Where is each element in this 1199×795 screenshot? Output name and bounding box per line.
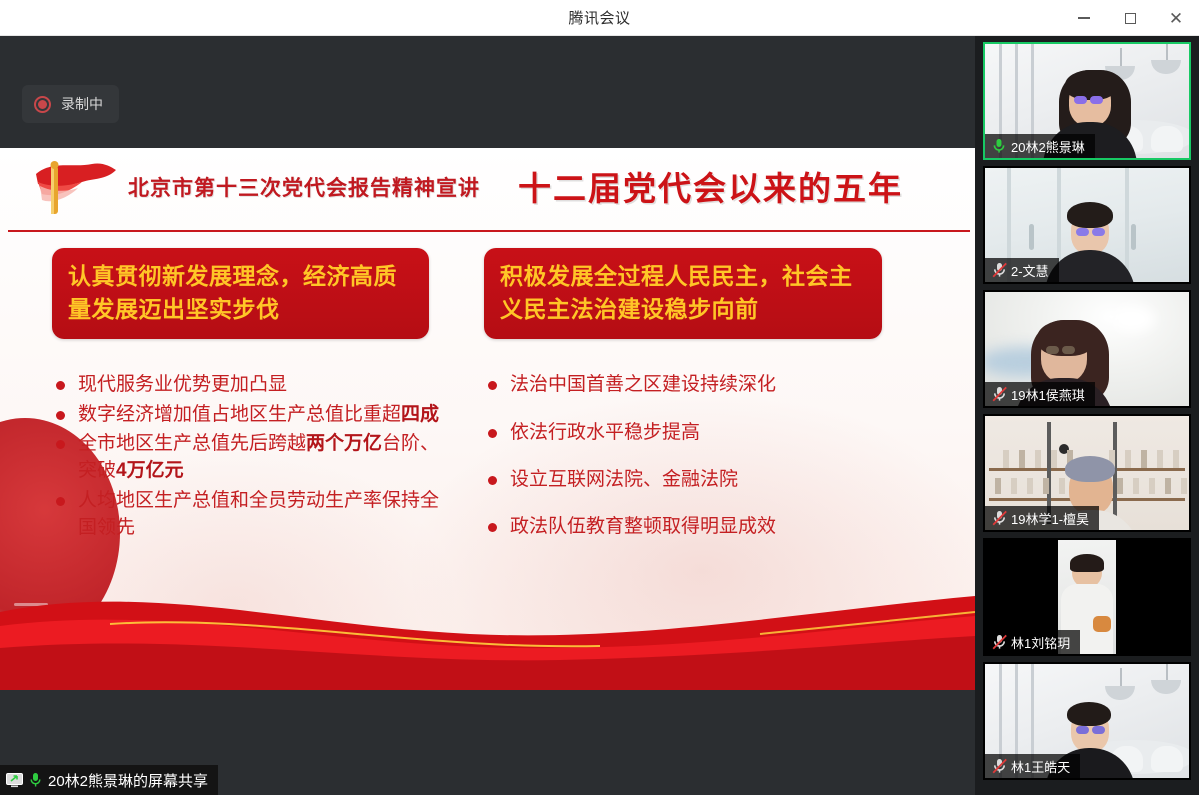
bullet-text: 现代服务业优势更加凸显 [78, 374, 287, 395]
microphone-muted-icon [992, 634, 1008, 650]
bullet-text: 依法行政水平稳步提高 [510, 422, 700, 443]
microphone-muted-icon[interactable] [992, 262, 1006, 278]
participant-name-badge: 林1刘铭玥 [985, 630, 1080, 654]
bullet-item: 人均地区生产总值和全员劳动生产率保持全国领先 [52, 487, 442, 542]
bullet-text: 设立互联网法院、金融法院 [510, 469, 738, 490]
maximize-icon [1125, 13, 1136, 24]
bullet-emphasis: 两个万亿 [306, 433, 382, 454]
record-dot-icon [34, 96, 51, 113]
window-title: 腾讯会议 [568, 7, 630, 28]
slide-header: 北京市第十三次党代会报告精神宣讲 十二届党代会以来的五年 [0, 148, 975, 232]
participant-name: 19林1侯燕琪 [1011, 385, 1085, 404]
slide-red-ribbon-decoration [0, 560, 975, 690]
participant-name: 2-文慧 [1011, 261, 1049, 280]
minimize-button[interactable] [1061, 0, 1107, 36]
bullet-emphasis: 四成 [401, 404, 439, 425]
bullet-list-left: 现代服务业优势更加凸显数字经济增加值占地区生产总值比重超四成全市地区生产总值先后… [52, 371, 442, 541]
close-button[interactable]: ✕ [1153, 0, 1199, 36]
recording-label: 录制中 [61, 94, 103, 114]
participant-name: 林1刘铭玥 [1011, 633, 1070, 652]
participant-name-badge: 林1王皓天 [985, 754, 1080, 778]
microphone-muted-icon [992, 510, 1008, 526]
microphone-muted-icon [992, 758, 1008, 774]
bullet-emphasis: 4万亿元 [116, 460, 184, 481]
participant-name: 林1王皓天 [1011, 757, 1070, 776]
bullet-list-right: 法治中国首善之区建设持续深化依法行政水平稳步提高设立互联网法院、金融法院政法队伍… [484, 371, 884, 540]
screen-share-icon [6, 773, 23, 788]
participant-name-badge: 19林1侯燕琪 [985, 382, 1095, 406]
maximize-button[interactable] [1107, 0, 1153, 36]
microphone-muted-icon [992, 386, 1008, 402]
bullet-text: 政法队伍教育整顿取得明显成效 [510, 516, 776, 537]
participant-video-panel[interactable]: 20林2熊景琳 2-文慧 19林1侯燕琪 19林学1-檀昊 [975, 36, 1199, 795]
participant-name-badge: 20林2熊景琳 [985, 134, 1095, 158]
bullet-item: 全市地区生产总值先后跨越两个万亿台阶、突破4万亿元 [52, 430, 442, 485]
slide-column-left: 认真贯彻新发展理念，经济高质量发展迈出坚实步伐 现代服务业优势更加凸显数字经济增… [52, 248, 442, 543]
participant-tile[interactable]: 林1王皓天 [983, 662, 1191, 780]
participant-tile[interactable]: 2-文慧 [983, 166, 1191, 284]
microphone-muted-icon [992, 262, 1008, 278]
microphone-muted-icon[interactable] [992, 510, 1006, 526]
screen-share-owner-label: 20林2熊景琳的屏幕共享 [48, 770, 208, 791]
participant-tile[interactable]: 19林1侯燕琪 [983, 290, 1191, 408]
microphone-muted-icon[interactable] [992, 634, 1006, 650]
tencent-meeting-window: 腾讯会议 ✕ 录制中 [0, 0, 1199, 795]
slide-header-divider [8, 230, 970, 232]
participant-tile[interactable]: 19林学1-檀昊 [983, 414, 1191, 532]
slide-column-right: 积极发展全过程人民民主，社会主义民主法治建设稳步向前 法治中国首善之区建设持续深… [484, 248, 884, 561]
participant-name: 20林2熊景琳 [1011, 137, 1085, 156]
participant-name: 19林学1-檀昊 [1011, 509, 1089, 528]
window-controls: ✕ [1061, 0, 1199, 36]
slide-subtitle: 北京市第十三次党代会报告精神宣讲 [128, 172, 480, 202]
bullet-item: 现代服务业优势更加凸显 [52, 371, 442, 398]
title-bar: 腾讯会议 ✕ [0, 0, 1199, 36]
participant-name-badge: 2-文慧 [985, 258, 1059, 282]
bullet-text: 数字经济增加值占地区生产总值比重超 [78, 404, 401, 425]
microphone-muted-icon[interactable] [992, 386, 1006, 402]
bullet-item: 依法行政水平稳步提高 [484, 419, 884, 446]
column-banner-right: 积极发展全过程人民民主，社会主义民主法治建设稳步向前 [484, 248, 882, 339]
recording-badge: 录制中 [22, 85, 119, 123]
slide-title: 十二届党代会以来的五年 [518, 162, 903, 210]
bullet-text: 全市地区生产总值先后跨越 [78, 433, 306, 454]
presentation-slide: 北京市第十三次党代会报告精神宣讲 十二届党代会以来的五年 认真贯彻新发展理念，经… [0, 148, 975, 690]
column-banner-left: 认真贯彻新发展理念，经济高质量发展迈出坚实步伐 [52, 248, 429, 339]
minimize-icon [1078, 17, 1090, 19]
red-flag-icon [22, 158, 118, 220]
bullet-item: 数字经济增加值占地区生产总值比重超四成 [52, 401, 442, 428]
microphone-muted-icon[interactable] [992, 758, 1006, 774]
screen-share-status-bar: 20林2熊景琳的屏幕共享 [0, 765, 218, 795]
microphone-on-icon[interactable] [992, 138, 1006, 154]
shared-screen-stage[interactable]: 录制中 北京市第十三次党代会报告精神宣讲 十二届党代会以来的五年 [0, 36, 975, 795]
microphone-on-icon [992, 138, 1006, 154]
bullet-text: 法治中国首善之区建设持续深化 [510, 374, 776, 395]
microphone-icon [29, 772, 42, 788]
bullet-item: 法治中国首善之区建设持续深化 [484, 371, 884, 398]
bullet-item: 政法队伍教育整顿取得明显成效 [484, 513, 884, 540]
bullet-text: 人均地区生产总值和全员劳动生产率保持全国领先 [78, 490, 439, 538]
participant-tile[interactable]: 20林2熊景琳 [983, 42, 1191, 160]
participant-name-badge: 19林学1-檀昊 [985, 506, 1099, 530]
bullet-item: 设立互联网法院、金融法院 [484, 466, 884, 493]
close-icon: ✕ [1169, 10, 1183, 27]
participant-tile[interactable]: 林1刘铭玥 [983, 538, 1191, 656]
